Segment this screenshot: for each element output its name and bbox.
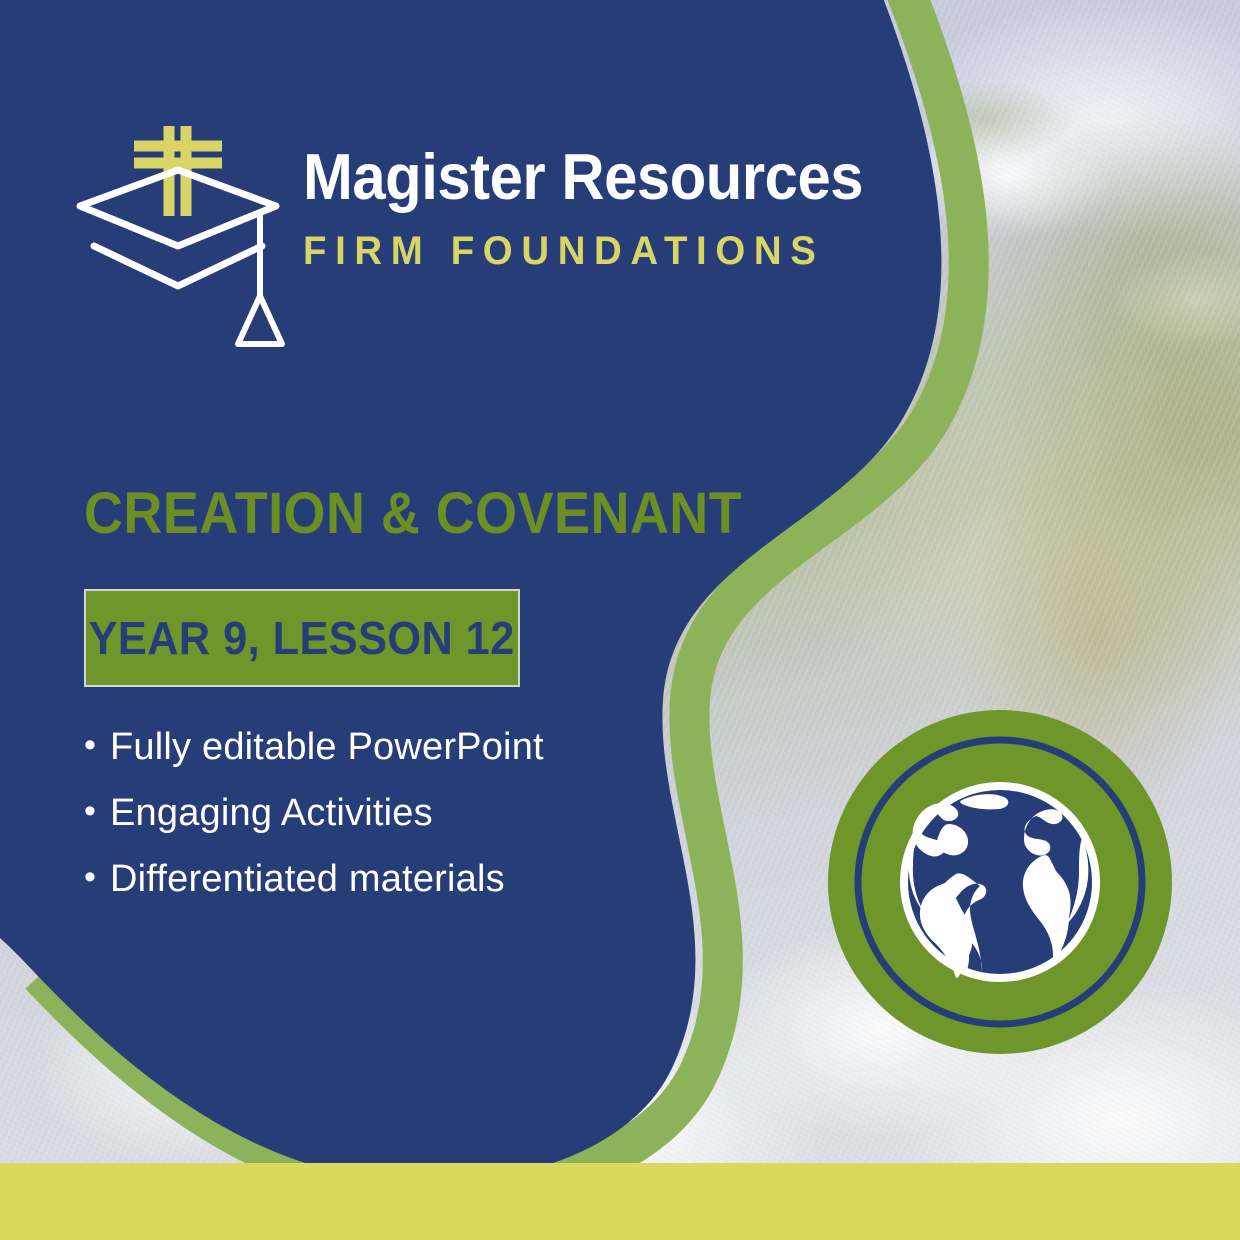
brand-tagline: FIRM FOUNDATIONS	[303, 231, 887, 271]
lesson-title: CREATION & COVENANT	[84, 485, 742, 543]
bullet-icon: •	[84, 794, 110, 828]
lesson-badge-label: YEAR 9, LESSON 12	[89, 611, 515, 665]
list-item: • Differentiated materials	[84, 860, 544, 898]
bullet-icon: •	[84, 860, 110, 894]
graduation-cap-with-cross-icon	[72, 118, 287, 348]
list-item: • Engaging Activities	[84, 794, 544, 832]
list-item: • Fully editable PowerPoint	[84, 728, 544, 766]
feature-label: Fully editable PowerPoint	[110, 728, 544, 766]
feature-list: • Fully editable PowerPoint • Engaging A…	[84, 728, 544, 926]
lesson-badge: YEAR 9, LESSON 12	[84, 589, 520, 687]
bottom-accent-bar	[0, 1163, 1240, 1240]
bullet-icon: •	[84, 728, 110, 762]
lesson-cover-graphic: Magister Resources FIRM FOUNDATIONS CREA…	[0, 0, 1240, 1240]
feature-label: Engaging Activities	[110, 794, 433, 832]
feature-label: Differentiated materials	[110, 860, 505, 898]
brand-name: Magister Resources	[303, 144, 863, 209]
brand-lockup: Magister Resources FIRM FOUNDATIONS	[72, 118, 912, 348]
